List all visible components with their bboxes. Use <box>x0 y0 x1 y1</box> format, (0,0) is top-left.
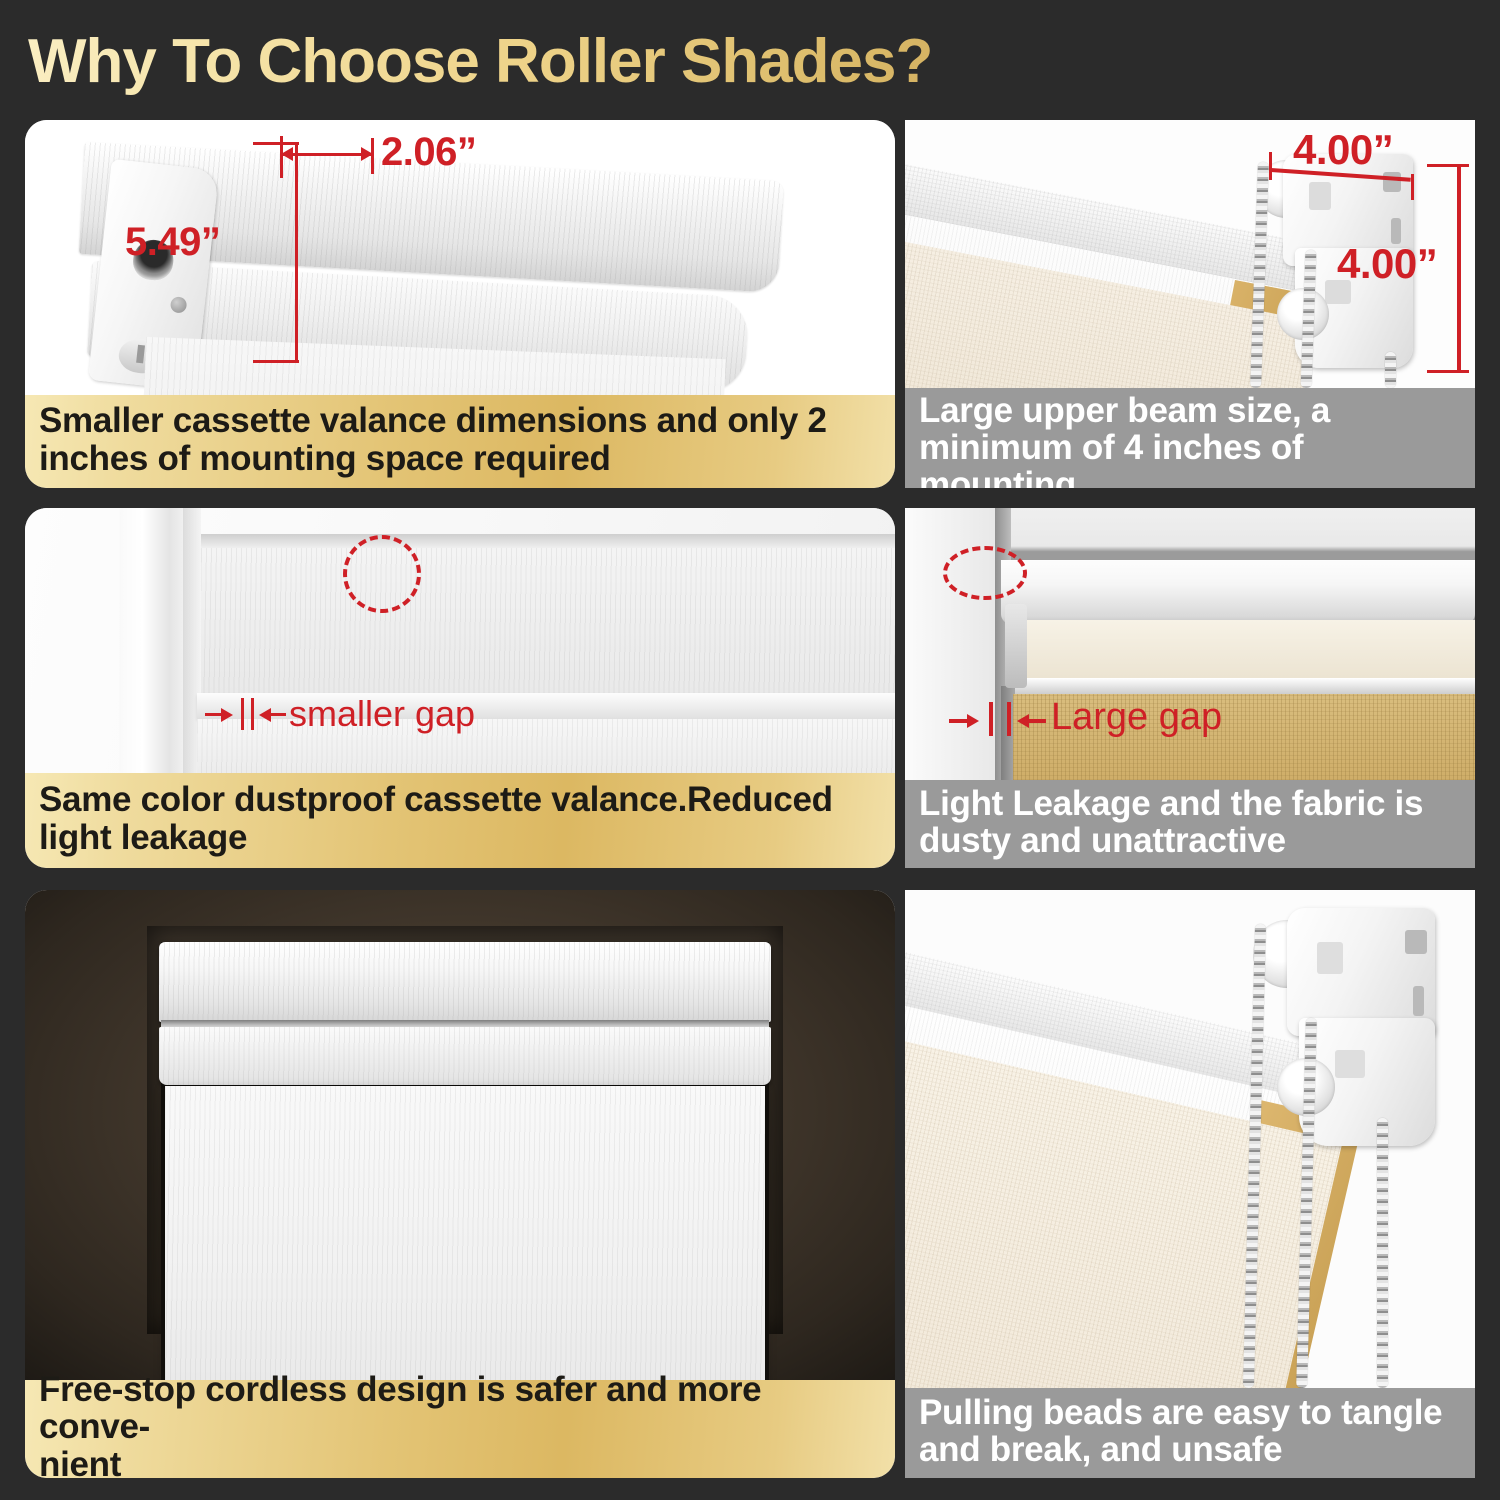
cassette-head-rail <box>201 534 895 548</box>
dim-width-label: 4.00” <box>1293 126 1393 174</box>
gap-arrow-left-stem <box>270 713 286 716</box>
dim-height-label: 5.49” <box>125 220 220 265</box>
infographic-root: Why To Choose Roller Shades? 2.06” <box>0 0 1500 1500</box>
panel-3-caption-text: Same color dustproof cassette valance.Re… <box>39 781 833 855</box>
panel-5-caption-text: Free-stop cordless design is safer and m… <box>39 1371 881 1478</box>
dim-height-line <box>1457 164 1461 372</box>
end-cap-screw <box>170 296 188 314</box>
panel-light-leakage: Large gap Light Leakage and the fabric i… <box>905 508 1475 868</box>
gap-arrow-right-stem <box>205 713 223 716</box>
gap-tick-right <box>251 698 254 730</box>
gap-tick-left <box>989 702 993 736</box>
panel-5-photo <box>25 890 895 1380</box>
mounting-bracket <box>1287 908 1435 1036</box>
roller-tube <box>1001 560 1475 624</box>
panel-4-caption-bar: Light Leakage and the fabric is dusty an… <box>905 780 1475 868</box>
bracket-emblem-upper <box>1309 182 1331 210</box>
gap-tick-right <box>1007 702 1011 736</box>
panel-2-caption-bar: Large upper beam size, a minimum of 4 in… <box>905 388 1475 488</box>
highlight-circle-icon <box>343 535 421 613</box>
panel-1-photo: 2.06” 5.49” <box>25 120 895 395</box>
panel-6-caption-text: Pulling beads are easy to tangle and bre… <box>919 1394 1442 1468</box>
roller-clip-bracket <box>1005 604 1027 688</box>
bracket-emblem-upper <box>1317 942 1343 974</box>
panel-2-caption-text: Large upper beam size, a minimum of 4 in… <box>919 392 1461 488</box>
valance-lip <box>1009 678 1475 694</box>
valance-seam <box>161 1020 769 1027</box>
panel-smaller-cassette: 2.06” 5.49” Smaller cassette valance dim… <box>25 120 895 488</box>
panel-large-beam: 4.00” 4.00” Large upper beam size, a min… <box>905 120 1475 488</box>
panel-5-caption-bar: Free-stop cordless design is safer and m… <box>25 1380 895 1478</box>
bracket-slot-top <box>1383 172 1401 192</box>
dim-width-tick-right <box>371 138 374 174</box>
dim-width-tick-left <box>1269 152 1272 180</box>
bracket-slot-mid <box>1413 986 1424 1016</box>
panel-2-photo: 4.00” 4.00” <box>905 120 1475 388</box>
dim-height-tick-bottom <box>1427 370 1469 373</box>
bead-chain-right <box>1377 1118 1388 1388</box>
bracket-slot-top <box>1405 930 1427 954</box>
panel-dustproof-cassette: smaller gap Same color dustproof cassett… <box>25 508 895 868</box>
panel-cordless-design: Free-stop cordless design is safer and m… <box>25 890 895 1478</box>
dim-height-label: 4.00” <box>1337 240 1437 288</box>
panel-1-caption-text: Smaller cassette valance dimensions and … <box>39 402 827 476</box>
dim-width-label: 2.06” <box>381 130 476 175</box>
dim-width-tick-right <box>1411 174 1414 200</box>
panel-6-photo <box>905 890 1475 1388</box>
dim-width-arrow-left <box>281 147 293 161</box>
gap-tick-left <box>241 698 244 730</box>
dim-height-line <box>295 142 298 362</box>
panel-6-caption-bar: Pulling beads are easy to tangle and bre… <box>905 1388 1475 1478</box>
gap-arrow-right-stem <box>949 719 969 723</box>
dim-height-tick-bottom <box>253 360 299 363</box>
gap-label: smaller gap <box>289 693 475 735</box>
valance-strip <box>1009 620 1475 678</box>
panel-3-photo: smaller gap <box>25 508 895 773</box>
panel-1-caption-bar: Smaller cassette valance dimensions and … <box>25 395 895 488</box>
dim-height-tick-top <box>253 142 299 145</box>
highlight-circle-icon <box>943 546 1027 600</box>
panel-pulling-beads: Pulling beads are easy to tangle and bre… <box>905 890 1475 1478</box>
panel-4-caption-text: Light Leakage and the fabric is dusty an… <box>919 785 1423 859</box>
cassette-valance-bottom <box>159 1027 771 1085</box>
shade-fabric-upper <box>201 548 895 693</box>
panel-3-caption-bar: Same color dustproof cassette valance.Re… <box>25 773 895 868</box>
shade-fabric <box>165 1086 765 1380</box>
bracket-emblem-lower <box>1335 1050 1365 1078</box>
panel-4-photo: Large gap <box>905 508 1475 780</box>
window-frame-moulding <box>121 508 183 773</box>
cassette-valance-top <box>159 942 771 1022</box>
dim-height-tick-top <box>1427 164 1469 167</box>
gap-label: Large gap <box>1051 696 1222 739</box>
bead-chain-right <box>1385 352 1396 388</box>
page-title: Why To Choose Roller Shades? <box>28 22 1128 102</box>
gap-arrow-left-stem <box>1028 719 1046 723</box>
